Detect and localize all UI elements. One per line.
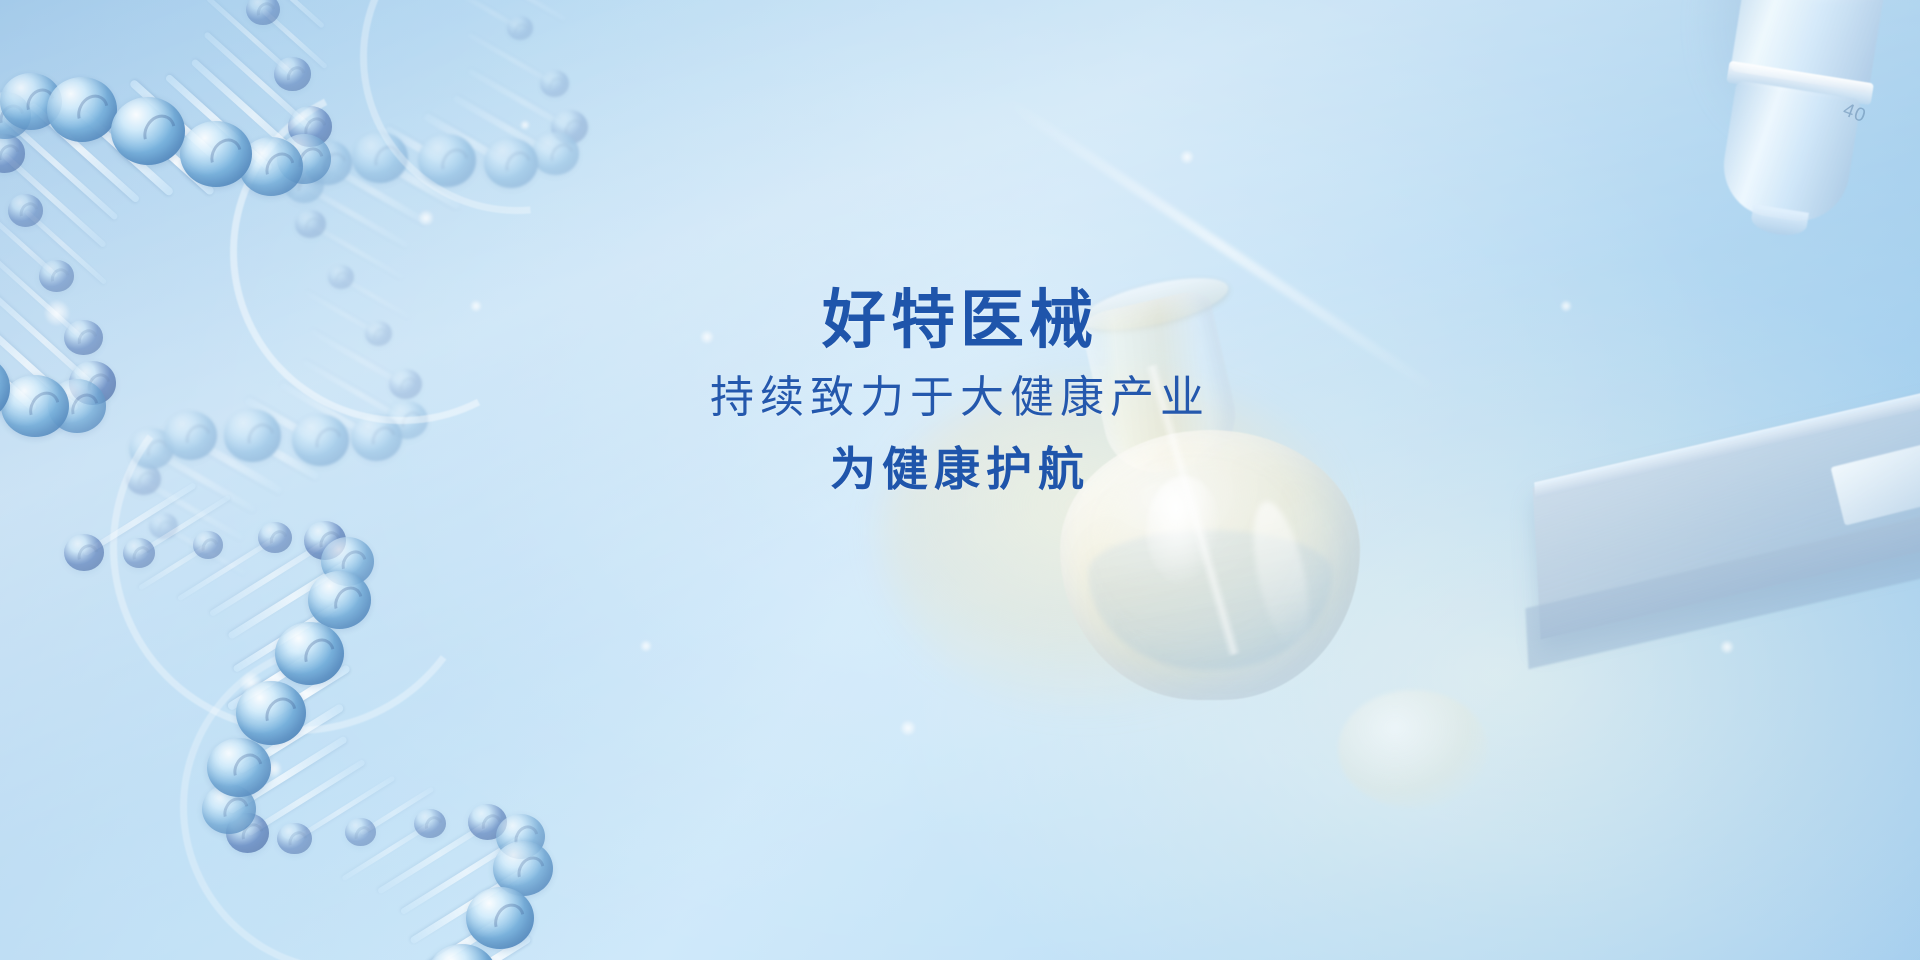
microscope-barrel-bottom	[1716, 80, 1861, 228]
microscope-objective-icon: 40	[1609, 0, 1920, 322]
hero-banner: 40 好特医械 持续致力于大健康产业 为健康护航	[0, 0, 1920, 960]
hero-text-block: 好特医械 持续致力于大健康产业 为健康护航	[0, 288, 1920, 494]
hero-subtitle: 持续致力于大健康产业	[0, 375, 1920, 421]
petri-dish	[1338, 690, 1488, 808]
hero-tagline: 为健康护航	[0, 445, 1920, 493]
page-title: 好特医械	[0, 288, 1920, 353]
